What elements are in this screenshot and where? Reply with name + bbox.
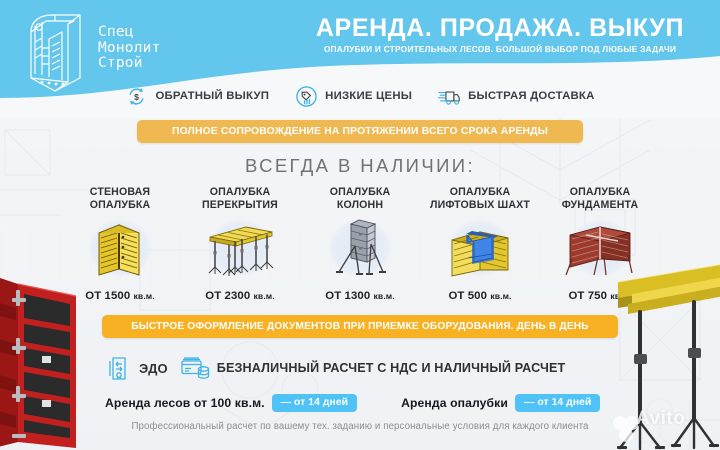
price-column-formwork: ОТ 1300 кв.м.: [300, 290, 420, 308]
feature-label: НИЗКИЕ ЦЕНЫ: [325, 90, 412, 102]
term-text: Аренда опалубки: [401, 396, 508, 410]
product-title: ОПАЛУБКАЛИФТОВЫХ ШАХТ: [430, 186, 530, 211]
brand-name: Спец Монолит Строй: [98, 25, 161, 72]
term-duration-badge: — от 14 дней: [272, 394, 357, 412]
product-image: [77, 217, 163, 279]
section-title-in-stock: ВСЕГДА В НАЛИЧИИ:: [0, 155, 720, 177]
payment-label: БЕЗНАЛИЧНЫЙ РАСЧЕТ С НДС И НАЛИЧНЫЙ РАСЧ…: [217, 361, 566, 375]
term-text: Аренда лесов от 100 кв.м.: [105, 396, 265, 410]
rental-terms-row: Аренда лесов от 100 кв.м. — от 14 дней А…: [105, 392, 600, 414]
feature-buyback: $ ОБРАТНЫЙ ВЫКУП: [125, 85, 269, 108]
payment-edo: ЭДО: [105, 355, 168, 382]
watermark-dots-icon: [612, 410, 638, 444]
edo-document-exchange-icon: [105, 355, 132, 382]
payment-label: ЭДО: [139, 361, 168, 376]
product-shaft-formwork[interactable]: ОПАЛУБКАЛИФТОВЫХ ШАХТ: [420, 186, 540, 279]
price-tag-hand-icon: [295, 85, 318, 108]
buyback-arrows-dollar-icon: $: [125, 85, 148, 108]
product-image: [437, 217, 523, 279]
feature-label: ОБРАТНЫЙ ВЫКУП: [155, 90, 269, 102]
product-title: ОПАЛУБКАКОЛОНН: [330, 186, 391, 211]
slab-formwork-icon: [202, 219, 278, 277]
price-slab-formwork: ОТ 2300 кв.м.: [180, 290, 300, 308]
card-and-cash-icon: [180, 355, 210, 382]
products-row: СТЕНОВАЯОПАЛУБКА: [60, 186, 660, 304]
product-image: [197, 217, 283, 279]
product-slab-formwork[interactable]: ОПАЛУБКАПЕРЕКРЫТИЯ: [180, 186, 300, 279]
feature-fast-delivery: БЫСТРАЯ ДОСТАВКА: [438, 85, 594, 108]
wall-formwork-icon: [85, 219, 155, 277]
product-title: ОПАЛУБКАФУНДАМЕНТА: [562, 186, 639, 211]
product-column-formwork[interactable]: ОПАЛУБКАКОЛОНН: [300, 186, 420, 279]
feature-label: БЫСТРАЯ ДОСТАВКА: [468, 90, 594, 102]
product-title: ОПАЛУБКАПЕРЕКРЫТИЯ: [202, 186, 278, 211]
column-formwork-icon: [329, 218, 391, 278]
term-duration-badge: — от 14 дней: [515, 394, 600, 412]
term-scaffolding: Аренда лесов от 100 кв.м. — от 14 дней: [105, 394, 357, 412]
product-image: [317, 217, 403, 279]
term-formwork: Аренда опалубки — от 14 дней: [401, 394, 600, 412]
banner-fast-paperwork: БЫСТРОЕ ОФОРМЛЕНИЕ ДОКУМЕНТОВ ПРИ ПРИЕМК…: [102, 315, 618, 338]
advertisement-banner: Спец Монолит Строй АРЕНДА. ПРОДАЖА. ВЫКУ…: [0, 0, 720, 450]
prices-row: ОТ 1500 кв.м. ОТ 2300 кв.м. ОТ 1300 кв.м…: [60, 290, 660, 308]
svg-text:$: $: [135, 91, 140, 101]
brand-name-line-2: Монолит: [98, 41, 161, 57]
banner-full-support: ПОЛНОЕ СОПРОВОЖДЕНИЕ НА ПРОТЯЖЕНИИ ВСЕГО…: [137, 120, 583, 143]
product-wall-formwork[interactable]: СТЕНОВАЯОПАЛУБКА: [60, 186, 180, 279]
brand-name-line-1: Спец: [98, 25, 161, 41]
price-shaft-formwork: ОТ 500 кв.м.: [420, 290, 540, 308]
red-wall-formwork-panel-photo: [0, 272, 90, 450]
shaft-formwork-icon: [442, 218, 518, 278]
payment-methods-row: ЭДО БЕЗНАЛИЧНЫЙ РАСЧЕТ С НДС И НАЛИЧНЫЙ …: [105, 352, 565, 384]
page-title: АРЕНДА. ПРОДАЖА. ВЫКУП: [290, 14, 710, 43]
delivery-truck-icon: [438, 85, 461, 108]
feature-low-prices: НИЗКИЕ ЦЕНЫ: [295, 85, 412, 108]
brand-name-line-3: Строй: [98, 56, 161, 72]
page-subtitle: ОПАЛУБКИ И СТРОИТЕЛЬНЫХ ЛЕСОВ. БОЛЬШОЙ В…: [282, 44, 718, 54]
payment-cashless-and-cash: БЕЗНАЛИЧНЫЙ РАСЧЕТ С НДС И НАЛИЧНЫЙ РАСЧ…: [180, 355, 566, 382]
features-row: $ ОБРАТНЫЙ ВЫКУП НИЗКИЕ ЦЕНЫ: [0, 80, 720, 112]
product-title: СТЕНОВАЯОПАЛУБКА: [90, 186, 151, 211]
